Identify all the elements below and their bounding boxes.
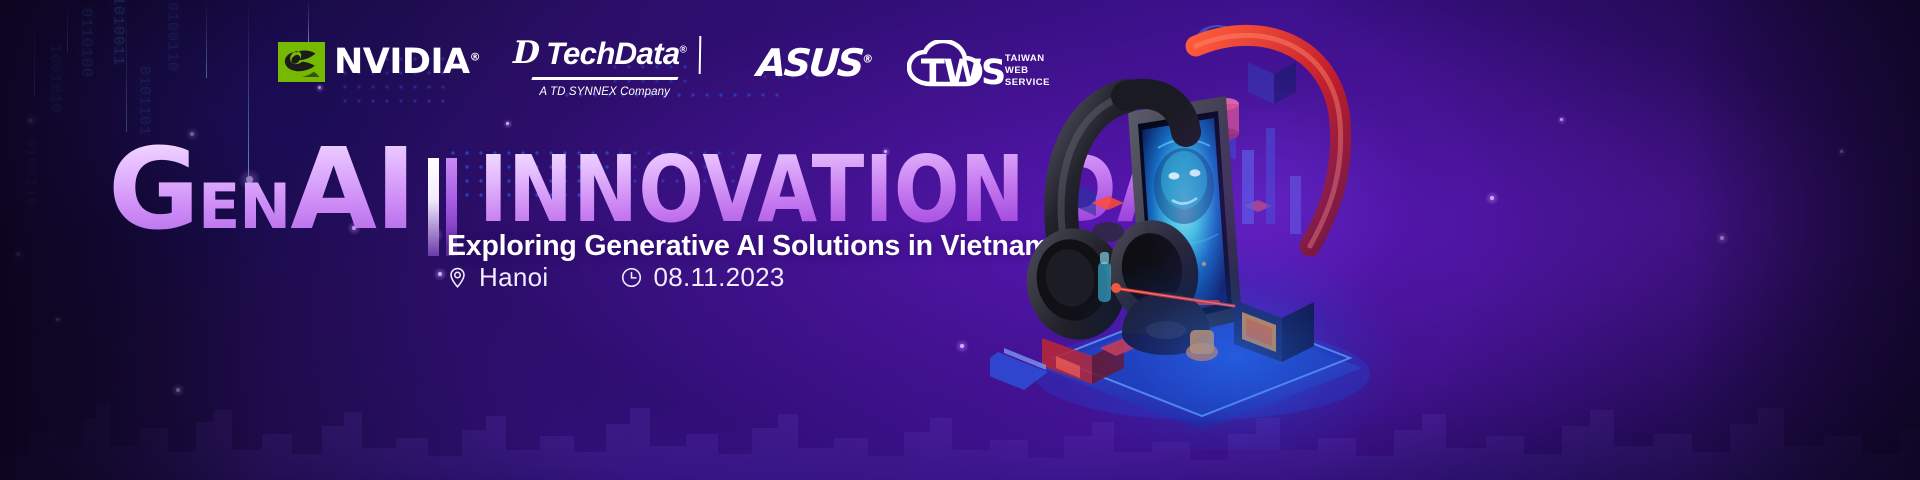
asus-trademark: ®	[862, 52, 871, 65]
nvidia-logo: NVIDIA®	[278, 42, 480, 82]
tech-data-logo: D TechData® A TD SYNNEX Company	[508, 36, 701, 98]
glow-particle	[438, 272, 442, 276]
genai-small: EN	[198, 170, 290, 243]
binary-column: 1010011	[110, 0, 125, 66]
nvidia-eye-icon	[278, 42, 325, 82]
nvidia-wordmark: NVIDIA®	[334, 45, 480, 80]
event-location: Hanoi	[447, 262, 548, 293]
nvidia-wordmark-text: NVIDIA	[334, 42, 470, 82]
glow-particle	[28, 118, 33, 123]
glow-particle	[1490, 196, 1494, 200]
tech-data-monogram: D	[513, 38, 540, 69]
genai-brand-text: GENAI	[108, 142, 415, 238]
event-location-label: Hanoi	[479, 262, 548, 293]
asus-wordmark: ASUS®	[756, 44, 872, 82]
tech-data-mark: D TechData®	[508, 36, 702, 74]
event-meta-row: Hanoi 08.11.2023	[447, 262, 785, 293]
event-date-label: 08.11.2023	[653, 262, 784, 293]
genai-tail: AI	[290, 125, 414, 255]
glow-particle	[176, 388, 180, 392]
illustration-glow	[1010, 30, 1480, 450]
city-skyline-silhouette	[0, 360, 1920, 480]
binary-column: 0100110	[22, 138, 37, 208]
glow-particle	[1560, 118, 1563, 121]
location-pin-icon	[447, 267, 468, 288]
event-subtitle: Exploring Generative AI Solutions in Vie…	[447, 230, 1050, 263]
genai-innovation-day-banner: 0100110 1001010 0110100 1010011 0101101 …	[0, 0, 1920, 480]
glow-particle	[16, 252, 20, 256]
light-streak	[67, 0, 68, 52]
tech-data-tagline: A TD SYNNEX Company	[539, 86, 670, 98]
binary-column: 0110100	[78, 8, 93, 78]
tech-data-wordmark: TechData®	[546, 38, 687, 69]
tech-data-trademark: ®	[680, 45, 687, 56]
nvidia-trademark: ®	[470, 50, 481, 63]
event-date: 08.11.2023	[621, 262, 784, 293]
asus-wordmark-text: ASUS	[756, 41, 864, 85]
nvidia-eye-glyph	[283, 47, 321, 77]
binary-column: 0100110	[164, 2, 179, 72]
glow-particle	[1720, 236, 1724, 240]
light-streak	[34, 0, 35, 96]
genai-lead: G	[108, 125, 198, 255]
tws-cloud-icon: TWS	[907, 40, 999, 90]
tech-data-underline	[531, 77, 678, 80]
glow-particle	[56, 318, 59, 321]
clock-icon	[621, 267, 642, 288]
partner-logo-row: NVIDIA® D TechData® A TD SYNNEX Company …	[278, 36, 1050, 98]
glow-particle	[1840, 150, 1843, 153]
light-streak	[126, 0, 127, 132]
asus-logo: ASUS®	[757, 44, 871, 82]
glow-particle	[506, 122, 509, 125]
glow-particle	[960, 344, 964, 348]
light-streak	[206, 0, 207, 78]
ai-tech-isometric-render	[990, 0, 1490, 480]
binary-column: 1001010	[47, 44, 62, 114]
headline-divider-white	[428, 158, 439, 256]
tech-data-wordmark-text: TechData	[546, 36, 680, 71]
